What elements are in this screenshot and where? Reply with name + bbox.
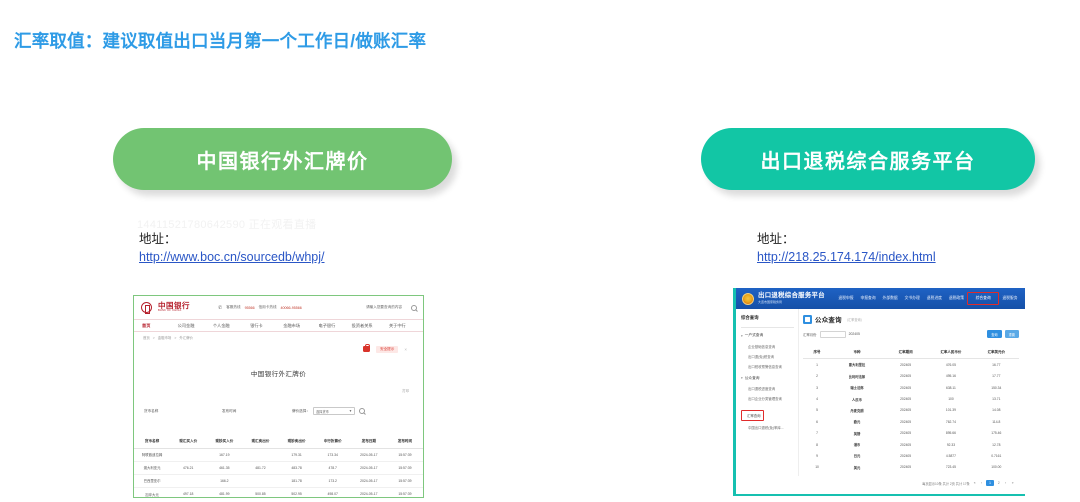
tax-table-header-row: 序号 币种 汇率期间 汇率人民币价 汇率美元价 xyxy=(803,346,1019,359)
tax-sidebar: 综合查询 ▾ 一户式查询 企业基础信息查询 出口退(免)税查询 出口税收预警信息… xyxy=(736,309,798,476)
table-row: 加拿大元 497.18 481.99 500.85 502.95 498.07 … xyxy=(134,488,423,498)
tax-body: 综合查询 ▾ 一户式查询 企业基础信息查询 出口退(免)税查询 出口税收预警信息… xyxy=(736,309,1025,476)
tax-nav-item-2[interactable]: 外部数据 xyxy=(879,293,901,304)
tax-cell: 7 xyxy=(803,427,831,438)
tax-brand-subtitle: 大连市国家税务局 xyxy=(758,301,825,304)
close-icon[interactable]: × xyxy=(404,347,407,352)
boc-cell: 502.95 xyxy=(279,488,315,498)
sidebar-item-rate-library[interactable]: 中国出口退税(免)率库... xyxy=(741,422,794,432)
tax-screenshot: 出口退税综合服务平台 大连市国家税务局 退税申报 申报查询 外部数据 文书办理 … xyxy=(733,288,1025,496)
tax-accent-bottom xyxy=(733,494,1025,497)
tax-inner: 出口退税综合服务平台 大连市国家税务局 退税申报 申报查询 外部数据 文书办理 … xyxy=(736,288,1025,494)
table-row: 7 英镑 202405 895.66 175.46 xyxy=(803,427,1019,438)
boc-th-2: 现钞买入价 xyxy=(206,435,242,448)
sidebar-item-classification[interactable]: 出口企业分类管理查询 xyxy=(741,394,794,404)
boc-security-badge[interactable]: 安全提示 xyxy=(376,346,398,353)
sidebar-item-warning-info[interactable]: 出口税收预警信息查询 xyxy=(741,361,794,371)
page-next-icon[interactable]: › xyxy=(1004,481,1008,485)
table-row: 2 比利时法郎 202405 495.16 17.77 xyxy=(803,371,1019,382)
boc-filter-label-date: 发布时间 xyxy=(222,409,292,414)
tax-address-block: 地址： http://218.25.174.174/index.html xyxy=(757,230,936,266)
tax-brand: 出口退税综合服务平台 大连市国家税务局 xyxy=(758,293,825,304)
boc-breadcrumb-0[interactable]: 首页 xyxy=(143,335,150,340)
tax-cell: 101.39 xyxy=(928,405,973,416)
tax-cell: 意大利里拉 xyxy=(831,359,883,371)
tax-rate-table: 序号 币种 汇率期间 汇率人民币价 汇率美元价 1 意大利里拉 xyxy=(803,346,1019,473)
boc-nav-item-5[interactable]: 电子银行 xyxy=(309,323,344,329)
page-title: 汇率取值：建议取值出口当月第一个工作日/做账汇率 xyxy=(14,28,426,53)
boc-print-link[interactable]: 打印 xyxy=(134,388,423,393)
boc-cell: 497.18 xyxy=(170,488,206,498)
table-row: 5 丹麦克朗 202405 101.39 14.08 xyxy=(803,405,1019,416)
boc-nav-item-0[interactable]: 首页 xyxy=(142,323,168,329)
tax-month-input[interactable] xyxy=(820,331,846,338)
tax-nav-item-5[interactable]: 退税政策 xyxy=(945,293,967,304)
boc-nav-item-4[interactable]: 金融市场 xyxy=(274,323,309,329)
chevron-down-icon: ▾ xyxy=(741,334,743,338)
tax-brand-title: 出口退税综合服务平台 xyxy=(758,293,825,299)
boc-th-7: 发布时间 xyxy=(387,435,423,448)
tax-cell: 476.05 xyxy=(928,359,973,371)
boc-cell: 173.34 xyxy=(315,448,351,461)
tax-cell: 100.00 xyxy=(974,462,1019,473)
tax-nav-item-6-highlighted[interactable]: 综合查询 xyxy=(967,292,998,305)
boc-logo-icon xyxy=(141,302,152,313)
tax-cell: 4.5877 xyxy=(928,450,973,461)
table-row: 巴西里亚尔 166.2 181.78 173.2 2024-05-17 15:5… xyxy=(134,474,423,487)
boc-table-header-row: 货币名称 现汇买入价 现钞买入价 现汇卖出价 现钞卖出价 中行折算价 发布日期 … xyxy=(134,435,423,448)
tax-cell: 202405 xyxy=(883,393,928,404)
tax-cell: 比利时法郎 xyxy=(831,371,883,382)
boc-screenshot: 中国银行 BANK OF CHINA ✆ 客服热线 95566 信用卡热线 40… xyxy=(133,295,424,498)
sidebar-item-exchange-rate-highlighted[interactable]: 汇率查询 xyxy=(741,410,764,421)
boc-cell xyxy=(242,448,278,461)
boc-breadcrumb-1[interactable]: 金融市场 xyxy=(158,335,172,340)
sidebar-item-refund-progress[interactable]: 出口退税进度查询 xyxy=(741,384,794,394)
tax-cell: 202405 xyxy=(883,439,928,450)
tax-cell: 202405 xyxy=(883,371,928,382)
boc-rate-button[interactable]: 中国银行外汇牌价 xyxy=(113,128,452,190)
boc-table-body: 阿联酋迪拉姆 167.19 179.31 173.34 2024-05-17 1… xyxy=(134,448,423,498)
boc-breadcrumb: 首页 > 金融市场 > 外汇牌价 xyxy=(134,332,423,343)
tax-cell: 瑞士法郎 xyxy=(831,382,883,393)
chevron-down-icon: ▾ xyxy=(741,376,743,380)
tax-filter-bar: 汇率月份 202405 查询 重置 xyxy=(803,330,1019,338)
tax-cell: 202405 xyxy=(883,416,928,427)
tax-pagination: 每页显示10条 共计 2页 共计 17条 « ‹ 1 2 › » xyxy=(803,480,1019,486)
boc-cell: 2024-05-17 xyxy=(351,448,387,461)
tax-cell: 895.66 xyxy=(928,427,973,438)
tax-cell: 8 xyxy=(803,439,831,450)
tax-filter-value: 202405 xyxy=(849,332,860,336)
boc-cell: 498.07 xyxy=(315,488,351,498)
tax-cell: 175.46 xyxy=(974,427,1019,438)
boc-cell: 181.78 xyxy=(279,474,315,487)
table-row: 9 日元 202405 4.5877 0.7161 xyxy=(803,450,1019,461)
tax-cell: 638.11 xyxy=(928,382,973,393)
sidebar-item-company-info[interactable]: 企业基础信息查询 xyxy=(741,341,794,351)
boc-cell: 179.31 xyxy=(279,448,315,461)
sidebar-item-export-refund[interactable]: 出口退(免)税查询 xyxy=(741,351,794,361)
boc-breadcrumb-2: 外汇牌价 xyxy=(179,335,193,340)
boc-address-label: 地址： xyxy=(139,230,325,248)
tax-cell: 英镑 xyxy=(831,427,883,438)
tax-sidebar-group-1[interactable]: ▾ 公众查询 xyxy=(741,376,794,381)
boc-th-0: 货币名称 xyxy=(134,435,170,448)
tax-nav-item-7[interactable]: 退税服务 xyxy=(999,293,1021,304)
tax-cell: 9 xyxy=(803,450,831,461)
tax-cell: 12.78 xyxy=(974,439,1019,450)
tax-main: 公众查询 （汇率查询） 汇率月份 202405 查询 重置 xyxy=(798,309,1025,476)
tax-cell: 202405 xyxy=(883,450,928,461)
boc-header: 中国银行 BANK OF CHINA ✆ 客服热线 95566 信用卡热线 40… xyxy=(134,296,423,319)
page-1-current[interactable]: 1 xyxy=(986,480,994,486)
tax-th-0: 序号 xyxy=(803,346,831,359)
tax-main-header: 公众查询 （汇率查询） xyxy=(803,315,1019,324)
page-last-icon[interactable]: » xyxy=(1010,481,1015,485)
boc-cell: 173.2 xyxy=(315,474,351,487)
tax-cell: 202405 xyxy=(883,359,928,371)
boc-address-link[interactable]: http://www.boc.cn/sourcedb/whpj/ xyxy=(139,248,325,266)
tax-main-title: 公众查询 xyxy=(815,315,842,324)
tax-filter-label: 汇率月份 xyxy=(803,332,817,337)
tax-cell: 14.08 xyxy=(974,405,1019,416)
tax-cell: 3 xyxy=(803,382,831,393)
tax-sidebar-group-1-label: 公众查询 xyxy=(745,376,760,381)
boc-cell: 加拿大元 xyxy=(134,488,170,498)
tax-cell: 202405 xyxy=(883,382,928,393)
tax-cell: 丹麦克朗 xyxy=(831,405,883,416)
boc-currency-select-value: 选择货币 xyxy=(316,409,329,414)
boc-toolbar: 安全提示 × xyxy=(134,343,423,355)
boc-breadcrumb-sep-1: > xyxy=(174,336,176,340)
boc-cell xyxy=(170,448,206,461)
tax-th-3: 汇率人民币价 xyxy=(928,346,973,359)
tax-cell: 723.45 xyxy=(928,462,973,473)
boc-currency-select[interactable]: 选择货币 ▼ xyxy=(313,407,355,415)
national-emblem-icon xyxy=(742,293,754,305)
boc-th-4: 现钞卖出价 xyxy=(279,435,315,448)
page-prev-icon[interactable]: ‹ xyxy=(980,481,984,485)
boc-th-3: 现汇卖出价 xyxy=(242,435,278,448)
tax-nav-item-3[interactable]: 文书办理 xyxy=(901,293,923,304)
tax-cell: 6 xyxy=(803,416,831,427)
tax-nav-item-4[interactable]: 退税进度 xyxy=(923,293,945,304)
boc-hotline-label-2: 信用卡热线 xyxy=(259,305,277,310)
lock-icon xyxy=(363,346,370,353)
tax-cell: 港币 xyxy=(831,439,883,450)
tax-cell: 17.77 xyxy=(974,371,1019,382)
boc-header-right: 请输入您要查询的内容 xyxy=(366,305,417,311)
tax-pager-summary: 每页显示10条 共计 2页 共计 17条 xyxy=(922,481,969,486)
boc-logo-en: BANK OF CHINA xyxy=(158,310,190,313)
tax-cell: 114.8 xyxy=(974,416,1019,427)
boc-nav-item-2[interactable]: 个人金融 xyxy=(204,323,239,329)
search-icon[interactable] xyxy=(411,305,417,311)
tax-th-1: 币种 xyxy=(831,346,883,359)
boc-hotline: ✆ 客服热线 95566 信用卡热线 40066-95566 xyxy=(218,305,302,311)
boc-filter-label-currency: 货币名称 xyxy=(144,409,222,414)
tax-cell: 762.74 xyxy=(928,416,973,427)
boc-cell: 15:57:39 xyxy=(387,461,423,474)
tax-cell: 日元 xyxy=(831,450,883,461)
tax-cell: 2 xyxy=(803,371,831,382)
boc-cell: 巴西里亚尔 xyxy=(134,474,170,487)
tax-address-label: 地址： xyxy=(757,230,936,248)
reset-button[interactable]: 重置 xyxy=(1005,330,1019,338)
tax-cell: 150.34 xyxy=(974,382,1019,393)
table-row: 3 瑞士法郎 202405 638.11 150.34 xyxy=(803,382,1019,393)
slide-root: 汇率取值：建议取值出口当月第一个工作日/做账汇率 中国银行外汇牌价 出口退税综合… xyxy=(0,0,1080,502)
tax-nav: 退税申报 申报查询 外部数据 文书办理 退税进度 退税政策 综合查询 退税服务 xyxy=(835,292,1021,305)
tax-cell: 202405 xyxy=(883,427,928,438)
boc-filter-bar: 货币名称 发布时间 牌价选择： 选择货币 ▼ xyxy=(134,403,423,419)
tax-cell: 202405 xyxy=(883,462,928,473)
boc-cell: 2024-05-17 xyxy=(351,488,387,498)
boc-th-1: 现汇买入价 xyxy=(170,435,206,448)
boc-rate-table: 货币名称 现汇买入价 现钞买入价 现汇卖出价 现钞卖出价 中行折算价 发布日期 … xyxy=(134,435,423,498)
table-row: 1 意大利里拉 202405 476.05 16.77 xyxy=(803,359,1019,371)
tax-sidebar-group-0-label: 一户式查询 xyxy=(745,333,763,338)
boc-nav-item-1[interactable]: 公司金融 xyxy=(168,323,203,329)
boc-cell: 阿联酋迪拉姆 xyxy=(134,448,170,461)
page-first-icon[interactable]: « xyxy=(972,481,977,485)
boc-filter-label-rate: 牌价选择： xyxy=(292,409,310,414)
tax-cell: 美元 xyxy=(831,462,883,473)
tax-cell: 10 xyxy=(803,462,831,473)
tax-th-2: 汇率期间 xyxy=(883,346,928,359)
tax-cell: 16.77 xyxy=(974,359,1019,371)
boc-cell: 481.99 xyxy=(206,488,242,498)
tax-main-breadcrumb: （汇率查询） xyxy=(845,317,864,322)
boc-cell xyxy=(170,474,206,487)
boc-nav: 首页 公司金融 个人金融 银行卡 金融市场 电子银行 投资者关系 关于中行 xyxy=(134,319,423,332)
table-row: 10 美元 202405 723.45 100.00 xyxy=(803,462,1019,473)
boc-cell: 476.21 xyxy=(170,461,206,474)
boc-hotline-number-1: 95566 xyxy=(245,306,255,310)
tax-cell: 1 xyxy=(803,359,831,371)
tax-cell: 人民币 xyxy=(831,393,883,404)
query-button[interactable]: 查询 xyxy=(987,330,1001,338)
boc-cell: 461.35 xyxy=(206,461,242,474)
page-2[interactable]: 2 xyxy=(996,481,1001,485)
boc-cell: 15:57:39 xyxy=(387,448,423,461)
boc-cell: 478.7 xyxy=(315,461,351,474)
boc-cell xyxy=(242,474,278,487)
tax-sidebar-group-0[interactable]: ▾ 一户式查询 xyxy=(741,333,794,338)
boc-breadcrumb-sep-0: > xyxy=(153,336,155,340)
tax-cell: 欧元 xyxy=(831,416,883,427)
boc-cell: 166.2 xyxy=(206,474,242,487)
boc-nav-item-7[interactable]: 关于中行 xyxy=(380,323,415,329)
tax-cell: 13.71 xyxy=(974,393,1019,404)
boc-cell: 500.85 xyxy=(242,488,278,498)
boc-cell: 15:57:39 xyxy=(387,488,423,498)
tax-cell: 100 xyxy=(928,393,973,404)
boc-nav-item-6[interactable]: 投资者关系 xyxy=(345,323,380,329)
tax-cell: 202405 xyxy=(883,405,928,416)
table-row: 澳大利亚元 476.21 461.35 481.72 483.78 478.7 … xyxy=(134,461,423,474)
document-icon xyxy=(803,315,812,324)
boc-search-hint: 请输入您要查询的内容 xyxy=(366,305,402,310)
tax-address-link[interactable]: http://218.25.174.174/index.html xyxy=(757,248,936,266)
table-row: 4 人民币 202405 100 13.71 xyxy=(803,393,1019,404)
table-row: 阿联酋迪拉姆 167.19 179.31 173.34 2024-05-17 1… xyxy=(134,448,423,461)
boc-logo-text: 中国银行 BANK OF CHINA xyxy=(158,302,190,313)
boc-cell: 483.78 xyxy=(279,461,315,474)
tax-platform-button[interactable]: 出口退税综合服务平台 xyxy=(701,128,1035,190)
boc-cell: 167.19 xyxy=(206,448,242,461)
tax-th-4: 汇率美元价 xyxy=(974,346,1019,359)
tax-table-body: 1 意大利里拉 202405 476.05 16.77 2 比利时法郎 2024… xyxy=(803,359,1019,473)
boc-th-6: 发布日期 xyxy=(351,435,387,448)
table-row: 6 欧元 202405 762.74 114.8 xyxy=(803,416,1019,427)
boc-search-submit-icon[interactable] xyxy=(359,408,365,414)
tax-header: 出口退税综合服务平台 大连市国家税务局 退税申报 申报查询 外部数据 文书办理 … xyxy=(736,288,1025,309)
boc-address-block: 地址： http://www.boc.cn/sourcedb/whpj/ xyxy=(139,230,325,266)
boc-hotline-number-2: 40066-95566 xyxy=(281,306,302,310)
chevron-down-icon: ▼ xyxy=(349,409,352,413)
tax-nav-item-1[interactable]: 申报查询 xyxy=(857,293,879,304)
boc-cell: 澳大利亚元 xyxy=(134,461,170,474)
boc-cell: 481.72 xyxy=(242,461,278,474)
tax-cell: 0.7161 xyxy=(974,450,1019,461)
tax-sidebar-title: 综合查询 xyxy=(741,315,794,321)
tax-cell: 495.16 xyxy=(928,371,973,382)
boc-nav-item-3[interactable]: 银行卡 xyxy=(239,323,274,329)
boc-th-5: 中行折算价 xyxy=(315,435,351,448)
tax-cell: 92.33 xyxy=(928,439,973,450)
table-row: 8 港币 202405 92.33 12.78 xyxy=(803,439,1019,450)
boc-cell: 2024-05-17 xyxy=(351,461,387,474)
boc-cell: 2024-05-17 xyxy=(351,474,387,487)
tax-cell: 5 xyxy=(803,405,831,416)
tax-nav-item-0[interactable]: 退税申报 xyxy=(835,293,857,304)
divider xyxy=(741,327,794,328)
tax-cell: 4 xyxy=(803,393,831,404)
boc-page-heading: 中国银行外汇牌价 xyxy=(134,368,423,378)
phone-icon: ✆ xyxy=(218,305,222,311)
boc-cell: 15:57:39 xyxy=(387,474,423,487)
boc-hotline-label-1: 客服热线 xyxy=(226,305,240,310)
